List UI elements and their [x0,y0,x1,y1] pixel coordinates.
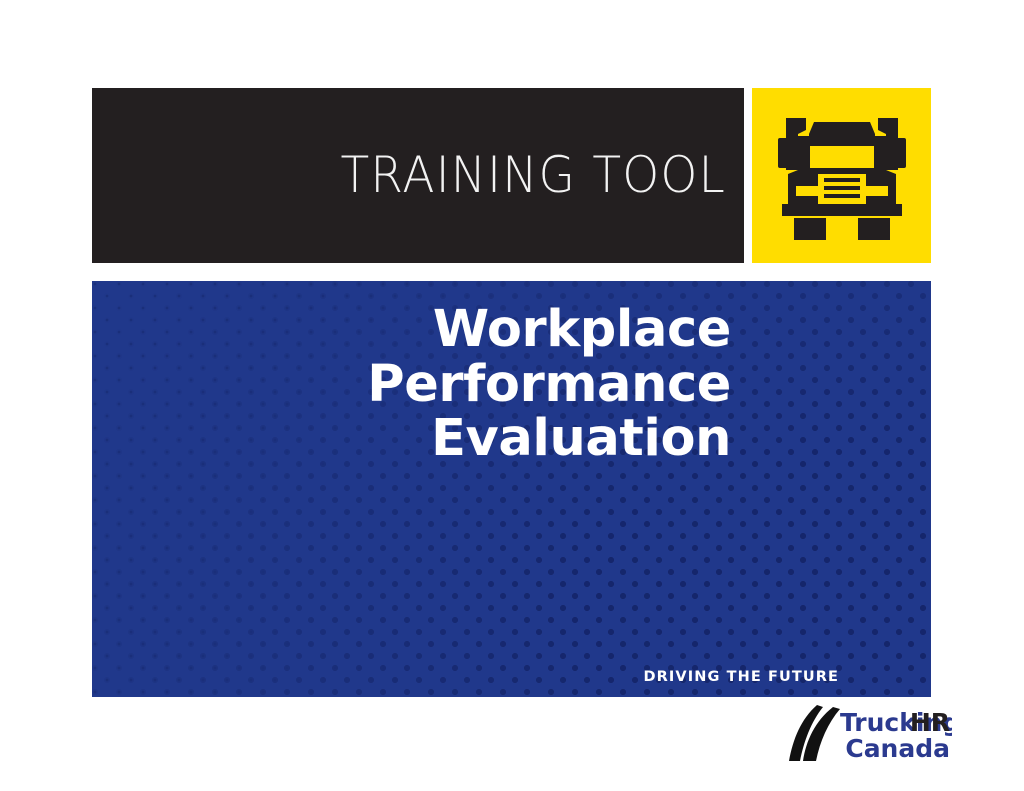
logo-word-hr-visible: HR [910,708,950,737]
cover-panel: Workplace Performance Evaluation DRIVING… [92,281,931,697]
tagline: DRIVING THE FUTURE [644,669,840,685]
page-title: Workplace Performance Evaluation [367,303,731,467]
truck-icon-tile [752,88,931,263]
road-swoosh-icon [789,705,840,761]
logo-artwork: Trucking HR HR Canada [787,703,952,765]
cover-page: TRAINING TOOL [0,0,1024,791]
trucking-hr-canada-logo: Trucking HR HR Canada [787,703,952,765]
header-band: TRAINING TOOL [92,88,931,263]
training-tool-bar: TRAINING TOOL [92,88,744,263]
truck-icon [776,112,908,240]
training-tool-label: TRAINING TOOL [341,151,727,201]
logo-word-canada: Canada [845,734,950,763]
